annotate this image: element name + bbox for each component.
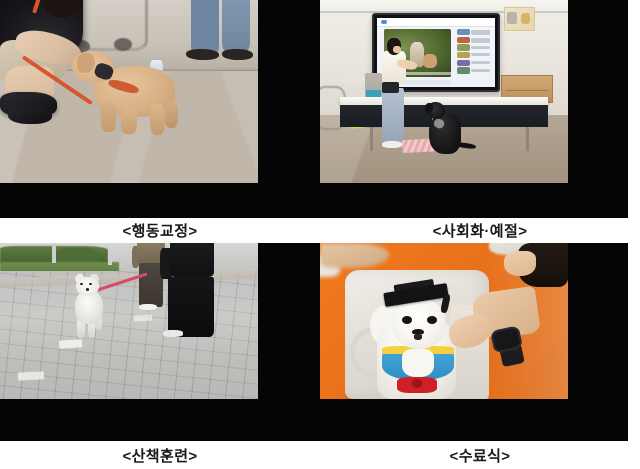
long-table-top <box>340 97 548 105</box>
poodle-foreleg-left <box>101 102 116 131</box>
caption-graduation-ceremony: <수료식> <box>320 445 640 466</box>
photo-socialization-manners <box>320 0 568 183</box>
wall-poster <box>504 7 536 31</box>
collar-white-bib <box>402 349 434 377</box>
sidebar-text-line <box>471 61 489 64</box>
panel-behavior-correction[interactable]: <행동교정> <box>0 0 320 240</box>
photo-letterbox-frame <box>0 243 320 441</box>
dog-mouth <box>414 335 421 340</box>
sidebar-thumbnail <box>457 67 470 73</box>
sidebar-text-line <box>471 32 489 35</box>
caption-socialization-manners: <사회화·예절> <box>320 220 640 241</box>
panel-socialization-manners[interactable]: <사회화·예절> <box>320 0 640 240</box>
sidebar-thumbnail <box>457 52 470 58</box>
light-paving-tile <box>59 339 83 348</box>
sidebar-thumbnail <box>457 37 470 43</box>
table-leg <box>370 127 373 151</box>
bollard <box>108 248 112 265</box>
labrador-ear <box>425 103 432 112</box>
sidebar-text-line <box>471 40 489 43</box>
photo-letterbox-frame <box>320 243 628 441</box>
trainer-face <box>393 46 400 53</box>
chair-caster-right-icon <box>114 38 132 51</box>
paving-stones <box>0 271 258 399</box>
dog-eye-right <box>89 283 92 285</box>
photo-behavior-correction <box>0 0 258 183</box>
panel-walk-training[interactable]: <산책훈련> <box>0 243 320 469</box>
caption-behavior-correction: <행동교정> <box>0 220 320 241</box>
video-dog <box>423 54 436 68</box>
walker-b-shoe <box>163 330 184 336</box>
poodle-hindleg-left <box>150 104 165 135</box>
sidebar-text-line <box>471 46 489 49</box>
person-face <box>504 251 536 276</box>
bystander-jeans-right <box>222 0 250 51</box>
handler-sandal-back <box>8 106 52 124</box>
poodle-foreleg-right <box>121 106 136 133</box>
maltese-head <box>392 299 447 349</box>
walker-b-trousers <box>168 277 214 336</box>
dog-eye-left <box>80 283 83 285</box>
dog-eye-right <box>427 316 437 324</box>
display-video-sidebar <box>457 29 490 77</box>
bollard <box>52 246 56 263</box>
trainer-trousers <box>382 88 404 143</box>
light-paving-tile <box>134 314 152 321</box>
poster-figure-left <box>507 12 517 24</box>
poster-figure-right <box>521 13 531 24</box>
sidebar-text-line <box>471 53 489 56</box>
walker-b-top <box>170 243 214 277</box>
caption-walk-training: <산책훈련> <box>0 445 320 466</box>
display-browser-bar <box>377 18 495 27</box>
poodle-hindleg-right <box>165 101 178 128</box>
photo-graduation-ceremony <box>320 243 568 399</box>
box-seam <box>506 90 548 91</box>
bystander-jeans-left <box>191 0 219 55</box>
sidebar-thumbnail <box>457 29 470 35</box>
trainer-shoe <box>382 141 402 148</box>
display-app-icon <box>381 20 387 24</box>
table-leg <box>526 127 529 151</box>
sidebar-thumbnail <box>457 60 470 66</box>
sidebar-thumbnail <box>457 44 470 50</box>
panel-graduation-ceremony[interactable]: <수료식> <box>320 243 640 469</box>
photo-walk-training <box>0 243 258 399</box>
trainer-treat-pouch <box>382 82 399 93</box>
photo-letterbox-frame <box>0 0 320 218</box>
walker-a-shoe <box>139 304 157 310</box>
sidebar-text-line <box>471 69 489 72</box>
bow-tie-knot <box>412 379 422 388</box>
dog-eye-left <box>402 316 412 324</box>
photo-collage: <행동교정> <box>0 0 640 469</box>
photo-letterbox-frame <box>320 0 628 218</box>
